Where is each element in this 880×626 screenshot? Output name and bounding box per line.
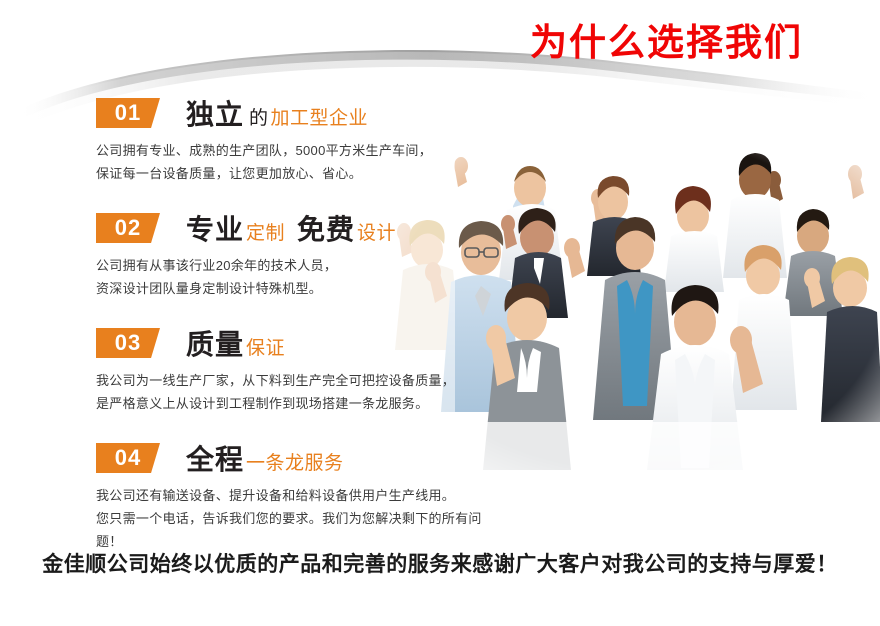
feature-title-04: 全程 一条龙服务 [186, 438, 344, 478]
feature-body-01: 公司拥有专业、成熟的生产团队，5000平方米生产车间， 保证每一台设备质量，让您… [96, 139, 496, 185]
team-photo [395, 140, 880, 470]
feature-body-line1-04: 我公司还有输送设备、提升设备和给料设备供用户生产线用。 [96, 484, 496, 507]
feature-number-04: 04 [115, 445, 141, 471]
feature-number-01: 01 [115, 100, 141, 126]
feature-item-04: 04 全程 一条龙服务 我公司还有输送设备、提升设备和给料设备供用户生产线用。 … [96, 441, 496, 553]
feature-body-line2-03: 是严格意义上从设计到工程制作到现场搭建一条龙服务。 [96, 392, 496, 415]
badge-tail-icon [162, 443, 176, 473]
page-title: 为什么选择我们 [530, 22, 860, 65]
badge-tail-icon [162, 328, 176, 358]
feature-number-02: 02 [115, 215, 141, 241]
feature-title-sub-accent-01: 加工型企业 [271, 103, 369, 130]
feature-title-main-02: 专业 [186, 208, 244, 248]
feature-heading-04: 04 全程 一条龙服务 [96, 441, 496, 475]
feature-title-02: 专业 定制 免费 设计 [186, 208, 396, 248]
feature-number-03: 03 [115, 330, 141, 356]
feature-heading-02: 02 专业 定制 免费 设计 [96, 211, 496, 245]
feature-title-03: 质量 保证 [186, 323, 285, 363]
feature-body-line2-01: 保证每一台设备质量，让您更加放心、省心。 [96, 162, 496, 185]
feature-heading-01: 01 独立 的 加工型企业 [96, 96, 496, 130]
feature-item-01: 01 独立 的 加工型企业 公司拥有专业、成熟的生产团队，5000平方米生产车间… [96, 96, 496, 185]
feature-body-line1-02: 公司拥有从事该行业20余年的技术人员， [96, 254, 496, 277]
feature-body-line2-04: 您只需一个电话，告诉我们您的要求。我们为您解决剩下的所有问题！ [96, 507, 496, 553]
footer-tagline: 金佳顺公司始终以优质的产品和完善的服务来感谢广大客户对我公司的支持与厚爱！ [0, 548, 880, 578]
feature-item-02: 02 专业 定制 免费 设计 公司拥有从事该行业20余年的技术人员， 资深设计团… [96, 211, 496, 300]
feature-title-main-01: 独立 [186, 93, 244, 133]
badge-tail-icon [162, 98, 176, 128]
feature-body-line2-02: 资深设计团队量身定制设计特殊机型。 [96, 277, 496, 300]
feature-number-badge-03: 03 [96, 328, 160, 358]
feature-body-02: 公司拥有从事该行业20余年的技术人员， 资深设计团队量身定制设计特殊机型。 [96, 254, 496, 300]
feature-title-sub-accent-02: 定制 [246, 218, 285, 245]
feature-number-badge-01: 01 [96, 98, 160, 128]
feature-title-01: 独立 的 加工型企业 [186, 93, 368, 133]
feature-body-line1-01: 公司拥有专业、成熟的生产团队，5000平方米生产车间， [96, 139, 496, 162]
feature-title-sub-accent-04: 一条龙服务 [246, 448, 344, 475]
feature-number-badge-02: 02 [96, 213, 160, 243]
feature-body-03: 我公司为一线生产厂家，从下料到生产完全可把控设备质量， 是严格意义上从设计到工程… [96, 369, 496, 415]
feature-heading-03: 03 质量 保证 [96, 326, 496, 360]
feature-title-main-03: 质量 [186, 323, 244, 363]
feature-title-sub-dark-01: 的 [249, 103, 269, 130]
feature-body-04: 我公司还有输送设备、提升设备和给料设备供用户生产线用。 您只需一个电话，告诉我们… [96, 484, 496, 553]
poster-root: 为什么选择我们 [0, 0, 880, 626]
feature-number-badge-04: 04 [96, 443, 160, 473]
feature-title-sub-accent-03: 保证 [246, 333, 285, 360]
feature-title-sub-accent2-02: 设计 [357, 218, 396, 245]
feature-body-line1-03: 我公司为一线生产厂家，从下料到生产完全可把控设备质量， [96, 369, 496, 392]
feature-title-main2-02: 免费 [297, 208, 355, 248]
feature-item-03: 03 质量 保证 我公司为一线生产厂家，从下料到生产完全可把控设备质量， 是严格… [96, 326, 496, 415]
badge-tail-icon [162, 213, 176, 243]
feature-title-main-04: 全程 [186, 438, 244, 478]
